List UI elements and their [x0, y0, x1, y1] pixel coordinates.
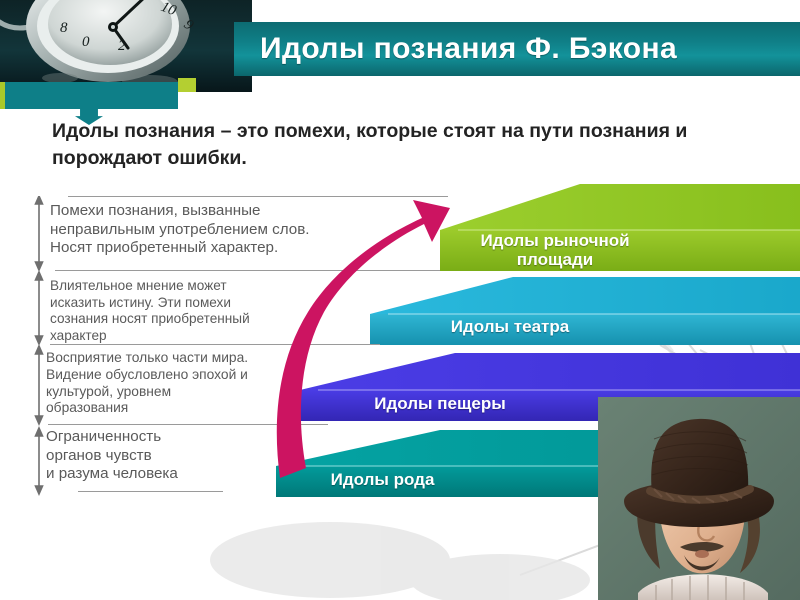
francis-bacon-portrait: [598, 397, 800, 600]
description-cave: Восприятие только части мира. Видение об…: [46, 350, 331, 417]
description-market: Помехи познания, вызванные неправильным …: [50, 202, 350, 258]
description-tribe: Ограниченность органов чувств и разума ч…: [46, 428, 276, 484]
slide-canvas: 10 9 8 0 2 Идолы познания Ф. Бэкона Идо: [0, 0, 800, 600]
step-label-tribe: Идолы рода: [275, 470, 490, 489]
svg-text:8: 8: [60, 20, 68, 36]
description-theatre: Влиятельное мнение может исказить истину…: [50, 278, 335, 344]
title-banner: Идолы познания Ф. Бэкона: [234, 22, 800, 76]
step-label-cave: Идолы пещеры: [330, 394, 550, 413]
pocket-watch-photo: 10 9 8 0 2: [0, 0, 252, 92]
tab-accent-right: [178, 78, 196, 92]
divider-line: [78, 491, 223, 492]
svg-text:0: 0: [82, 34, 90, 50]
divider-line: [55, 270, 440, 271]
divider-line: [48, 424, 328, 425]
intro-text: Идолы познания – это помехи, которые сто…: [52, 118, 772, 172]
step-label-market: Идолы рыночной площади: [440, 231, 670, 269]
page-title: Идолы познания Ф. Бэкона: [260, 32, 677, 66]
step-label-theatre: Идолы театра: [400, 317, 620, 336]
divider-line: [68, 196, 448, 197]
teal-tab: [5, 82, 178, 109]
